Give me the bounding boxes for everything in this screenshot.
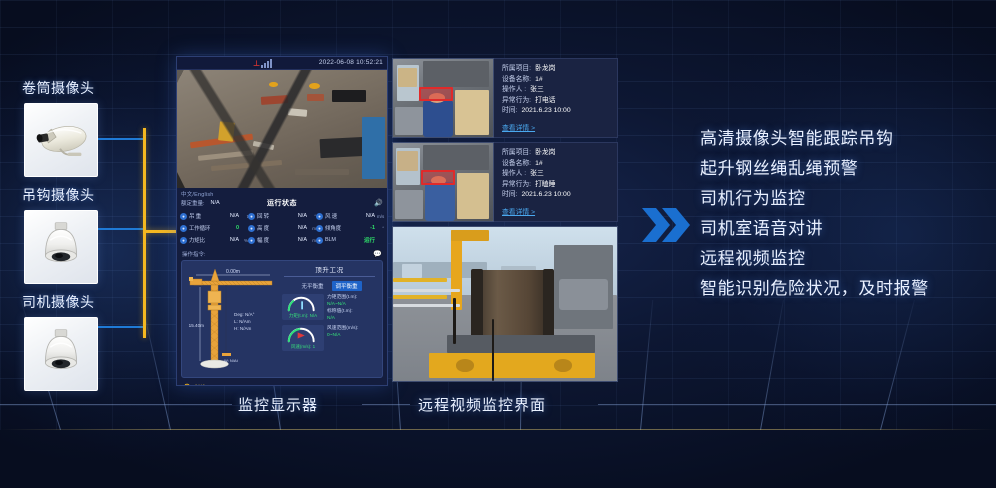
camera-item-driver[interactable]: 司机摄像头 [12, 292, 162, 391]
alert-field: 设备名称:1# [502, 159, 617, 170]
monitor-display[interactable]: ⊥ 2022-06-08 10:52:21 中文/Englis [176, 56, 388, 386]
alert-field-key: 异常行为: [502, 180, 531, 191]
balance-tab[interactable]: 调平衡重 [332, 281, 362, 291]
feature-item: 高清摄像头智能跟踪吊钩 [700, 124, 990, 154]
moment-range-key: 力矩范围(t.m): [327, 294, 379, 301]
alert-field-value: 1# [535, 75, 543, 86]
telemetry-unit: m/s [377, 214, 384, 219]
cab-operator-phone-thumb[interactable] [392, 58, 494, 138]
telemetry-name: 幅 度 [257, 236, 269, 244]
alert-field-value: 1# [535, 159, 543, 170]
remote-video-panel: 所属项目:卧龙岗设备名称:1#操作人 :张三异常行为:打电话时间:2021.6.… [392, 58, 618, 386]
svg-text:W: N/At: W: N/At [224, 358, 239, 363]
svg-text:H: N/Am: H: N/Am [234, 326, 252, 331]
telemetry-name: 风 速 [325, 212, 337, 220]
moment-range-value: N/A~N/A [327, 301, 379, 308]
connector-bus-vertical [143, 128, 146, 338]
wind-gauge: 风速(m/s): 1 [282, 325, 324, 351]
feature-item: 远程视频监控 [700, 244, 990, 274]
rotate-icon: ● [248, 213, 255, 220]
dome-camera-icon [24, 317, 98, 391]
caption-video: 远程视频监控界面 [418, 394, 546, 415]
svg-text:L: N/Am: L: N/Am [234, 319, 251, 324]
feature-item: 司机室语音对讲 [700, 214, 990, 244]
telemetry-value: N/A [298, 213, 307, 219]
torque-icon: ● [180, 237, 187, 244]
alert-field: 时间:2021.6.23 10:00 [502, 190, 617, 201]
monitor-header: 额定重量: N/A 运行状态 🔊 [177, 198, 387, 209]
caption-leader-right [598, 404, 996, 405]
svg-text:Deg: N/A°: Deg: N/A° [234, 312, 255, 317]
alert-field-key: 设备名称: [502, 159, 531, 170]
view-details-link[interactable]: 查看详情 > [502, 122, 535, 132]
alert-field-value: 卧龙岗 [535, 64, 555, 75]
connector-wire-drum [98, 138, 144, 140]
balance-tab[interactable]: 无平衡重 [297, 281, 327, 291]
alert-field-key: 时间: [502, 190, 517, 201]
telemetry-value: N/A [298, 237, 307, 243]
camera-label: 司机摄像头 [22, 292, 162, 312]
signal-bars-icon [261, 59, 272, 68]
telemetry-name: 回 转 [257, 212, 269, 220]
telemetry-name: BLM [325, 237, 336, 243]
camera-item-hook[interactable]: 吊钩摄像头 [12, 185, 162, 284]
moment-nominal-key: 标称值(t.m): [327, 308, 379, 315]
svg-text:15.40m: 15.40m [189, 323, 204, 328]
moment-gauge-label: 力矩(t.m): N/A [289, 313, 317, 319]
feature-item: 起升钢丝绳乱绳预警 [700, 154, 990, 184]
network-icon: ⊥ [253, 59, 260, 68]
telemetry-unit: m [309, 238, 316, 243]
alert-card[interactable]: 所属项目:卧龙岗设备名称:1#操作人 :张三异常行为:打电话时间:2021.6.… [392, 58, 618, 138]
double-chevron-right-icon [640, 202, 692, 248]
alert-field-value: 打瞌睡 [535, 180, 555, 191]
dome-camera-icon [24, 210, 98, 284]
wind-icon: ● [316, 213, 323, 220]
background-floor-line [0, 429, 996, 430]
caption-leader-mid [362, 404, 410, 405]
speaker-icon[interactable]: 🔊 [374, 199, 383, 207]
blm-icon: ● [316, 237, 323, 244]
title-divider [284, 276, 375, 277]
alert-field-key: 操作人 : [502, 85, 526, 96]
alert-field: 所属项目:卧龙岗 [502, 64, 617, 75]
telemetry-unit: % [241, 238, 248, 243]
monitor-statusbar: ⊥ 2022-06-08 10:52:21 [177, 57, 387, 70]
panel-title: 顶升工况 [280, 264, 379, 274]
telemetry-value: N/A [230, 213, 239, 219]
radius-icon: ● [248, 237, 255, 244]
monitor-footer: ⚙ N/A [177, 380, 387, 386]
run-status-title: 运行状态 [177, 198, 387, 208]
wind-info: 风速范围(m/s): 0~N/A [327, 325, 379, 351]
site-overhead-camera-feed[interactable] [177, 70, 387, 188]
alert-field: 操作人 :张三 [502, 85, 617, 96]
gear-icon[interactable]: ⚙ [183, 382, 191, 386]
telemetry-grid: ●吊 重N/At●回 转N/A°●风 速N/Am/s●工作循环0●高 度N/Am… [177, 209, 387, 248]
connector-wire-driver [98, 326, 144, 328]
moment-nominal-value: N/A [327, 315, 379, 322]
telemetry-cell: ●幅 度N/Am [248, 236, 316, 244]
telemetry-value: N/A [230, 237, 239, 243]
telemetry-name: 工作循环 [189, 224, 210, 232]
feature-item: 智能识别危险状况，及时报警 [700, 274, 990, 304]
footer-value: N/A [195, 384, 206, 386]
feature-item: 司机行为监控 [700, 184, 990, 214]
telemetry-value: 运行 [364, 236, 375, 244]
alert-field-value: 打电话 [535, 96, 555, 107]
alert-card[interactable]: 所属项目:卧龙岗设备名称:1#操作人 :张三异常行为:打瞌睡时间:2021.6.… [392, 142, 618, 222]
gauge-row-moment: 力矩(t.m): N/A 力矩范围(t.m): N/A~N/A 标称值(t.m)… [282, 294, 379, 322]
svg-text:0.00m: 0.00m [226, 269, 240, 275]
alert-field-value: 2021.6.23 10:00 [521, 106, 570, 117]
telemetry-name: 力矩比 [189, 236, 205, 244]
bullet-camera-icon [24, 103, 98, 177]
telemetry-cell: ●力矩比N/A% [180, 236, 248, 244]
alert-field-value: 卧龙岗 [535, 148, 555, 159]
camera-label: 吊钩摄像头 [22, 185, 162, 205]
alert-field-key: 所属项目: [502, 148, 531, 159]
telemetry-cell: ●BLM运行 [316, 236, 384, 244]
command-bar: 操作指令: 💬 [177, 248, 387, 259]
telemetry-cell: ●风 速N/Am/s [316, 212, 384, 220]
telemetry-row: ●吊 重N/At●回 转N/A°●风 速N/Am/s [180, 210, 384, 222]
alert-field-value: 张三 [530, 85, 544, 96]
alert-field-key: 异常行为: [502, 96, 531, 107]
telemetry-value: 0 [236, 225, 239, 231]
language-toggle[interactable]: 中文/English [177, 188, 387, 198]
telemetry-value: -1 [370, 225, 375, 231]
caption-row: 监控显示器 远程视频监控界面 [0, 392, 996, 416]
command-label: 操作指令: [182, 250, 206, 258]
telemetry-cell: ●高 度N/Am [248, 224, 316, 232]
winch-drum-camera-feed[interactable] [392, 226, 618, 382]
monitor-timestamp: 2022-06-08 10:52:21 [319, 59, 383, 66]
telemetry-cell: ●回 转N/A° [248, 212, 316, 220]
alert-field: 设备名称:1# [502, 75, 617, 86]
crane-diagram: 0.00m [182, 261, 278, 377]
caption-monitor: 监控显示器 [238, 394, 318, 415]
alert-field: 所属项目:卧龙岗 [502, 148, 617, 159]
telemetry-cell: ●倾角度-1° [316, 224, 384, 232]
connector-wire-hook [98, 228, 144, 230]
telemetry-name: 高 度 [257, 224, 269, 232]
crane-status-panel: 0.00m [181, 260, 383, 378]
wind-range-value: 0~N/A [327, 332, 379, 339]
scene: 卷筒摄像头 吊钩摄像头 [0, 0, 996, 488]
caption-leader-left [0, 404, 232, 405]
alert-field-key: 操作人 : [502, 169, 526, 180]
alert-info: 所属项目:卧龙岗设备名称:1#操作人 :张三异常行为:打瞌睡时间:2021.6.… [494, 142, 618, 222]
height-icon: ● [248, 225, 255, 232]
telemetry-unit: ° [309, 214, 316, 219]
telemetry-value: N/A [298, 225, 307, 231]
cycle-icon: ● [180, 225, 187, 232]
telemetry-row: ●力矩比N/A%●幅 度N/Am●BLM运行 [180, 234, 384, 246]
camera-label: 卷筒摄像头 [22, 78, 162, 98]
alert-info: 所属项目:卧龙岗设备名称:1#操作人 :张三异常行为:打电话时间:2021.6.… [494, 58, 618, 138]
alert-field: 异常行为:打电话 [502, 96, 617, 107]
telemetry-cell: ●吊 重N/At [180, 212, 248, 220]
alert-field-key: 所属项目: [502, 64, 531, 75]
lifting-condition-panel: 顶升工况 无平衡重调平衡重 力矩(t.m): N/A 力矩范围(t.m): [278, 261, 382, 377]
gauge-row-wind: 风速(m/s): 1 风速范围(m/s): 0~N/A [282, 325, 379, 351]
chat-icon[interactable]: 💬 [373, 250, 382, 258]
alert-field-key: 时间: [502, 106, 517, 117]
camera-item-drum[interactable]: 卷筒摄像头 [12, 78, 162, 177]
alert-field-key: 设备名称: [502, 75, 531, 86]
telemetry-unit: t [241, 214, 248, 219]
tilt-icon: ● [316, 225, 323, 232]
alert-field: 操作人 :张三 [502, 169, 617, 180]
moment-gauge: 力矩(t.m): N/A [282, 294, 324, 320]
telemetry-unit: ° [377, 226, 384, 231]
telemetry-value: N/A [366, 213, 375, 219]
alert-field: 异常行为:打瞌睡 [502, 180, 617, 191]
telemetry-name: 倾角度 [325, 224, 341, 232]
feature-list: 高清摄像头智能跟踪吊钩起升钢丝绳乱绳预警司机行为监控司机室语音对讲远程视频监控智… [700, 124, 990, 304]
camera-list: 卷筒摄像头 吊钩摄像头 [12, 78, 162, 399]
cab-operator-dozing-thumb[interactable] [392, 142, 494, 222]
wind-range-key: 风速范围(m/s): [327, 325, 379, 332]
telemetry-unit: m [309, 226, 316, 231]
wind-gauge-label: 风速(m/s): 1 [291, 344, 315, 350]
alert-field: 时间:2021.6.23 10:00 [502, 106, 617, 117]
alert-field-value: 2021.6.23 10:00 [521, 190, 570, 201]
telemetry-name: 吊 重 [189, 212, 201, 220]
telemetry-row: ●工作循环0●高 度N/Am●倾角度-1° [180, 222, 384, 234]
moment-info: 力矩范围(t.m): N/A~N/A 标称值(t.m): N/A [327, 294, 379, 322]
hoist-icon: ● [180, 213, 187, 220]
view-details-link[interactable]: 查看详情 > [502, 206, 535, 216]
balance-tabs[interactable]: 无平衡重调平衡重 [280, 281, 379, 291]
alert-field-value: 张三 [530, 169, 544, 180]
telemetry-cell: ●工作循环0 [180, 224, 248, 232]
